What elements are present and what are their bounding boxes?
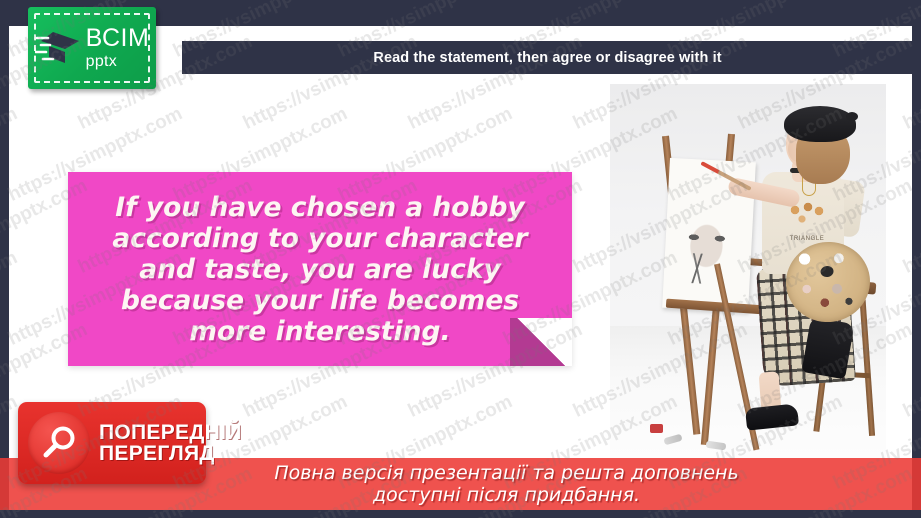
logo-brand-text: ВСІМ bbox=[86, 26, 150, 51]
lesson-photo: TRIANGLE bbox=[610, 84, 886, 458]
paint-palette bbox=[781, 237, 875, 328]
brand-logo[interactable]: ВСІМ pptx bbox=[28, 7, 156, 89]
tshirt-print bbox=[786, 202, 826, 236]
statement-card: If you have chosen a hobby according to … bbox=[68, 172, 572, 366]
tshirt-print-word: TRIANGLE bbox=[786, 236, 828, 242]
paint-tube-3 bbox=[650, 424, 663, 433]
frame-left-band bbox=[0, 0, 9, 518]
logo-sub-text: pptx bbox=[86, 54, 117, 70]
frame-right-band bbox=[912, 0, 921, 518]
canvas-scribble bbox=[677, 252, 719, 284]
purchase-notice-text: Повна версія презентації та решта доповн… bbox=[147, 462, 867, 507]
beret-nub bbox=[846, 112, 858, 121]
slide-title-bar: Read the statement, then agree or disagr… bbox=[182, 41, 913, 74]
graduation-cap-icon bbox=[35, 26, 81, 70]
badge-circle bbox=[28, 412, 90, 474]
page-title: Read the statement, then agree or disagr… bbox=[373, 50, 721, 66]
preview-badge-line1: ПОПЕРЕДНІЙ bbox=[99, 422, 242, 443]
purchase-notice-line1: Повна версія презентації та решта доповн… bbox=[274, 462, 738, 484]
statement-text: If you have chosen a hobby according to … bbox=[89, 192, 551, 347]
person-beret bbox=[784, 106, 856, 142]
magnifier-icon bbox=[41, 425, 77, 461]
slide-canvas: Read the statement, then agree or disagr… bbox=[0, 0, 921, 518]
purchase-notice-line2: доступні після придбання. bbox=[373, 484, 640, 506]
preview-badge-line2: ПЕРЕГЛЯД bbox=[99, 443, 242, 464]
palette-paint-blobs bbox=[781, 237, 875, 328]
frame-bottom-band bbox=[0, 510, 921, 518]
preview-badge[interactable]: ПОПЕРЕДНІЙ ПЕРЕГЛЯД bbox=[18, 402, 206, 484]
